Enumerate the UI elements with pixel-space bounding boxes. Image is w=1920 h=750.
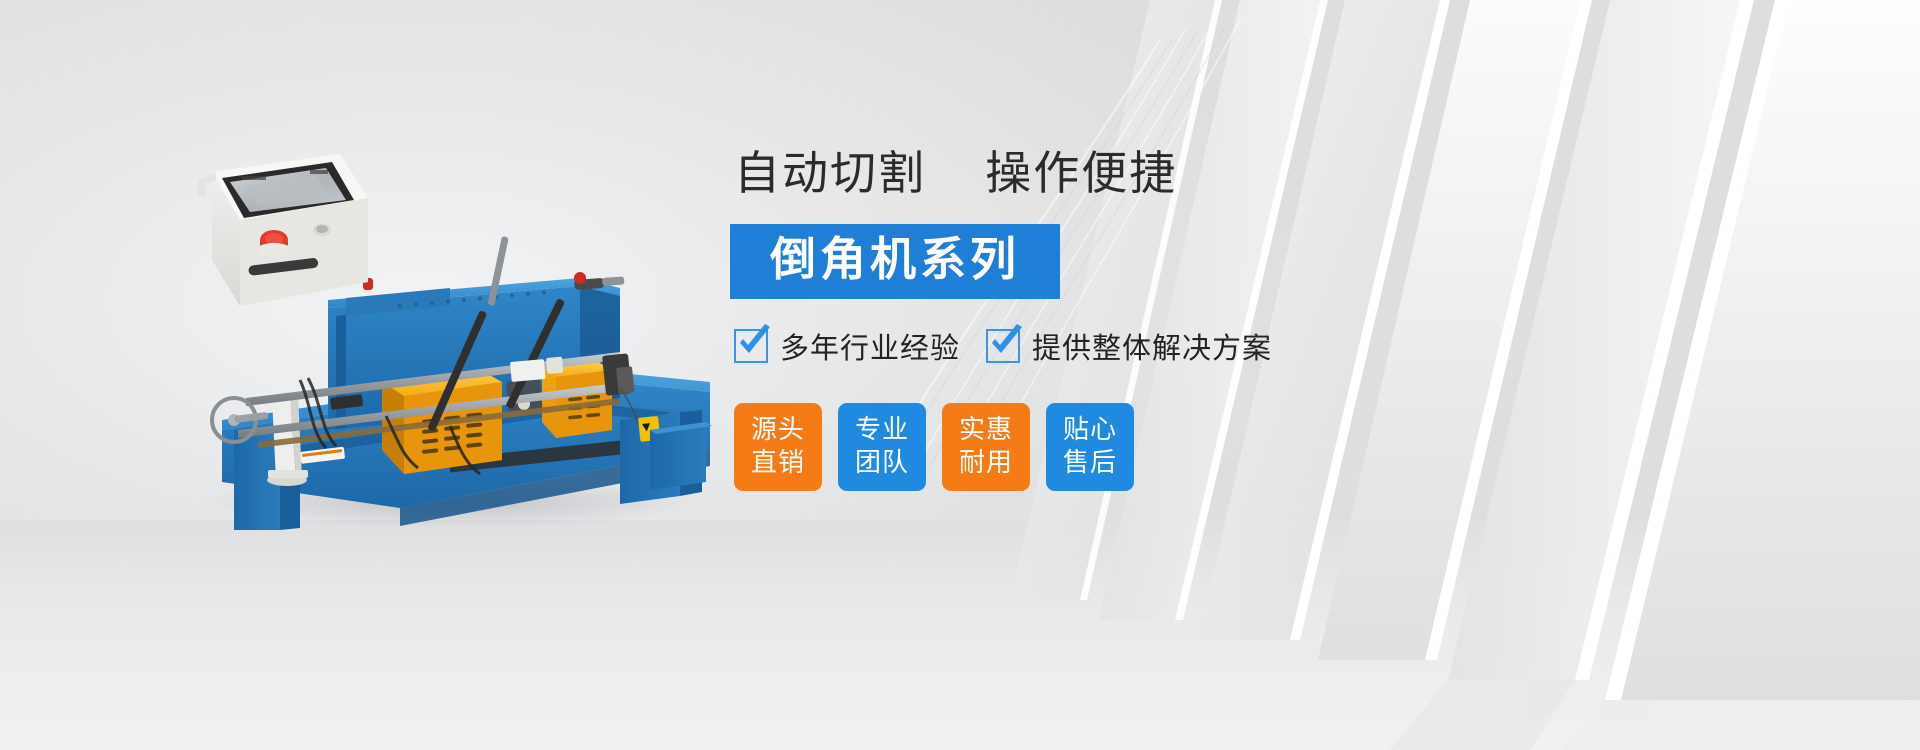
hero-banner: 自动切割 操作便捷 倒角机系列 多年行业经验	[0, 0, 1920, 750]
background-floor	[0, 520, 1920, 750]
tag-source-direct-sale[interactable]: 源头 直销	[734, 403, 822, 491]
tag-line-1: 专业	[855, 414, 909, 447]
tag-affordable-durable[interactable]: 实惠 耐用	[942, 403, 1030, 491]
product-title-banner: 倒角机系列	[730, 224, 1060, 299]
tag-line-1: 实惠	[959, 414, 1013, 447]
check-label: 提供整体解决方案	[1032, 325, 1272, 367]
tag-after-sales-service[interactable]: 贴心 售后	[1046, 403, 1134, 491]
headline: 自动切割 操作便捷	[734, 150, 1350, 196]
tag-line-2: 团队	[855, 447, 909, 480]
tag-line-2: 直销	[751, 447, 805, 480]
selling-point-tags: 源头 直销 专业 团队 实惠 耐用 贴心 售后	[734, 403, 1350, 491]
list-item: 提供整体解决方案	[986, 325, 1272, 367]
list-item: 多年行业经验	[734, 325, 960, 367]
headline-part-2: 操作便捷	[985, 146, 1177, 200]
tag-line-1: 贴心	[1063, 414, 1117, 447]
tag-line-2: 耐用	[959, 447, 1013, 480]
tag-line-1: 源头	[751, 414, 805, 447]
feature-check-list: 多年行业经验 提供整体解决方案	[734, 325, 1350, 367]
check-icon	[734, 329, 768, 363]
chamfering-machine-photo	[150, 130, 750, 530]
page-title: 倒角机系列	[770, 232, 1020, 286]
tag-line-2: 售后	[1063, 447, 1117, 480]
headline-part-1: 自动切割	[734, 146, 926, 200]
banner-content: 自动切割 操作便捷 倒角机系列 多年行业经验	[730, 150, 1350, 491]
check-label: 多年行业经验	[780, 325, 960, 367]
check-icon	[986, 329, 1020, 363]
tag-professional-team[interactable]: 专业 团队	[838, 403, 926, 491]
